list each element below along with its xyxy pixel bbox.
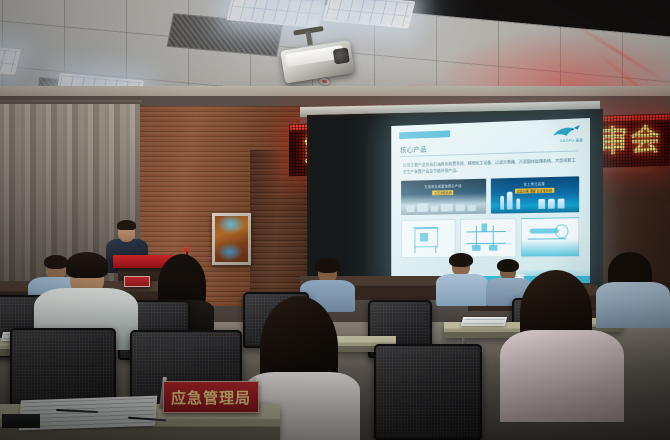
slide-title: 核心产品 [400,145,427,155]
wall-painting-frame [212,213,251,265]
paper-text-lines [463,319,504,324]
diagram-part [481,223,487,231]
audience-body-right-woman [500,330,624,422]
tank-shape [538,199,545,209]
phone-or-case [2,414,40,428]
slide-diagram-panel [401,219,455,258]
diagram-line [476,226,477,247]
presenter-hair [117,220,136,230]
chair-frame [374,344,482,440]
nameplate-mid-left [124,276,150,287]
slide-body-text: 公司主要产品包括石油炼化装置系统、精细化工设备、过滤分离器、污泥固化处理系统、大… [403,156,577,175]
document-paper [461,317,507,326]
audience-hair [44,255,68,269]
nameplate-front-desk: 应急管理局 [163,381,259,413]
diagram-line [493,225,494,246]
equipment-shape [417,203,428,212]
diagram-line [467,243,506,244]
microphone-indicator [184,248,188,252]
tank-shape [557,199,564,209]
audience-body-far-right [596,282,670,328]
diagram-part [420,233,428,242]
slide-image-subcaption: 过滤分离 储罐 反应釜系统 [515,188,554,194]
slide-image-caption: 化工单元装置 [524,181,545,186]
audience-hair [497,259,519,272]
tank-shape [516,198,520,209]
diagram-line [435,245,436,253]
audience-body [436,274,488,306]
tank-shape [506,192,512,210]
conference-room-screenshot: 第五届 评审会 核心产品 公司主要产品包括石油炼化装置系统、精细化工设备、过滤分… [0,0,670,440]
slide-image-panel: 石油炼化成套装置生产线 工艺流程系统 [401,179,486,215]
equipment-shape [456,204,465,211]
slide-diagram-panel [460,218,516,258]
equipment-shape [441,204,453,212]
diagram-line [528,238,567,239]
office-chair-foreground [374,344,482,440]
tank-shape [500,196,504,210]
audience-hair [315,258,340,273]
slide-image-panel: 化工单元装置 过滤分离 储罐 反应釜系统 [490,176,579,213]
diagram-part [555,224,569,238]
diagram-line [415,245,416,253]
tank-shape [548,199,555,209]
equipment-shape [406,205,414,212]
audience-hair [449,253,473,267]
slide-image-caption: 石油炼化成套装置生产线 [424,183,461,189]
projector-lens [333,47,350,64]
abstract-painting [215,216,248,262]
projection-screen: 核心产品 公司主要产品包括石油炼化装置系统、精细化工设备、过滤分离器、污泥固化处… [391,118,590,283]
audience-hair-foreground [66,252,108,278]
slide-diagram-panel [521,217,579,257]
slide-image-subcaption: 工艺流程系统 [432,190,453,195]
equipment-shape [468,205,476,211]
slide-accent-bar [399,130,450,139]
nameplate-text: 应急管理局 [171,387,251,408]
paper-text-lines [21,398,155,429]
slide-image-row: 石油炼化成套装置生产线 工艺流程系统 化工单元装置 过滤分离 储罐 反应釜系统 [401,176,579,215]
diagram-part [489,245,497,251]
company-logo-text: GAOPU 高普 [560,138,583,144]
diagram-part [472,245,480,251]
slide-diagram-row [401,217,579,258]
equipment-shape [431,206,438,212]
